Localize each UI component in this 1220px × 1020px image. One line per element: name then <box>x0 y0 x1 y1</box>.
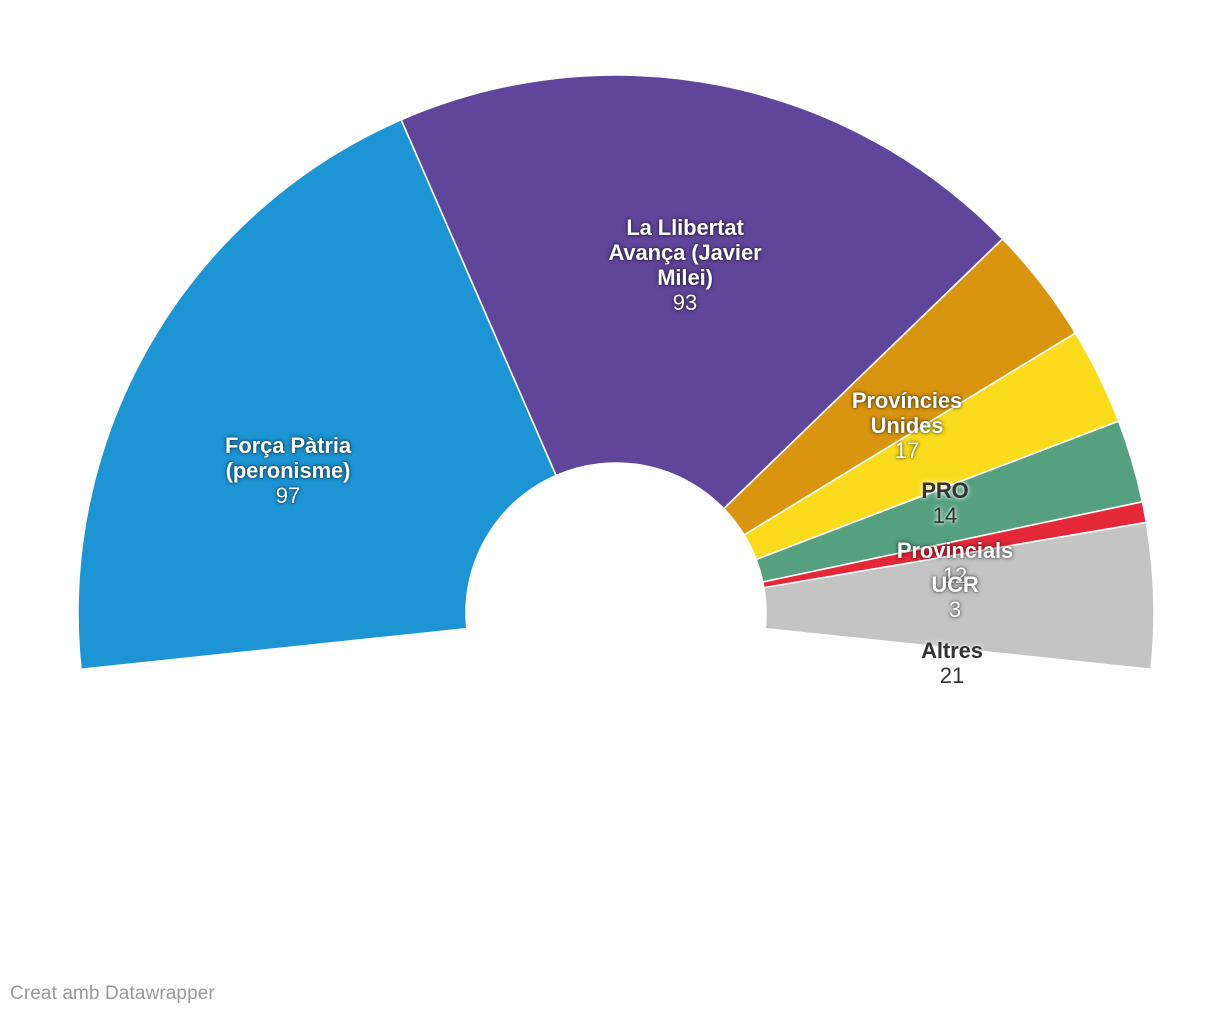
slices-group <box>78 75 1154 669</box>
donut-svg <box>0 0 1220 1020</box>
datawrapper-credit[interactable]: Creat amb Datawrapper <box>10 983 215 1005</box>
semicircle-donut-chart: Força Pàtria (peronisme)97La Llibertat A… <box>0 0 1220 1020</box>
